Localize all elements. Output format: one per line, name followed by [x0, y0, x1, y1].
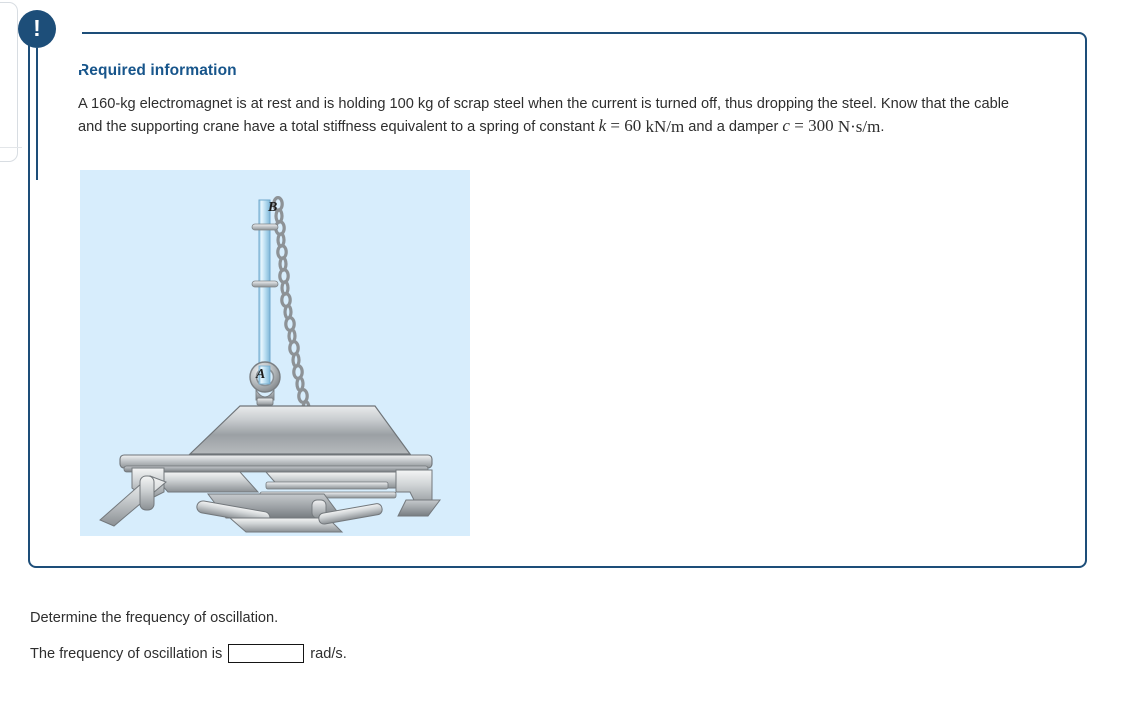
- math-k-value: 60: [624, 116, 641, 135]
- math-c-variable: c: [782, 116, 790, 135]
- math-c-equals: =: [794, 116, 804, 135]
- card-content: Required information A 160-kg electromag…: [78, 62, 1065, 138]
- math-k-variable: k: [599, 116, 607, 135]
- problem-statement: A 160-kg electromagnet is at rest and is…: [78, 94, 1013, 138]
- exclamation-icon: !: [18, 10, 56, 48]
- problem-text-part-2: and a damper: [688, 119, 778, 135]
- answer-unit-label: rad/s.: [310, 646, 347, 662]
- math-k-equals: =: [610, 116, 620, 135]
- question-area: Determine the frequency of oscillation. …: [30, 610, 730, 663]
- math-c-value: 300: [808, 116, 834, 135]
- answer-prefix-label: The frequency of oscillation is: [30, 646, 222, 662]
- required-information-card: Required information A 160-kg electromag…: [28, 32, 1087, 568]
- horizontal-divider: [0, 147, 22, 148]
- math-k-unit-denominator: m: [671, 117, 684, 136]
- math-k-unit-numerator: kN: [645, 117, 666, 136]
- page-title: Required information: [78, 62, 1065, 80]
- math-stiffness-expression: k = 60 kN/m: [599, 116, 685, 135]
- adjacent-card-edge: [0, 2, 18, 162]
- frequency-answer-input[interactable]: [228, 644, 304, 663]
- math-c-unit-denominator: m: [867, 117, 880, 136]
- figure-label-b: B: [268, 200, 277, 216]
- question-prompt: Determine the frequency of oscillation.: [30, 610, 730, 626]
- electromagnet-diagram-svg: [80, 170, 470, 536]
- math-damping-expression: c = 300 N·s/m: [782, 116, 880, 135]
- math-c-unit-numerator: N·s: [838, 117, 863, 136]
- problem-figure: B A: [80, 170, 470, 536]
- exclamation-glyph: !: [33, 17, 41, 40]
- math-k-units: kN/m: [645, 116, 684, 137]
- problem-text-part-3: .: [880, 119, 884, 135]
- answer-row: The frequency of oscillation is rad/s.: [30, 644, 730, 663]
- math-c-units: N·s/m: [838, 116, 881, 137]
- electromagnet-graphic: [100, 406, 440, 532]
- figure-label-a: A: [256, 367, 265, 383]
